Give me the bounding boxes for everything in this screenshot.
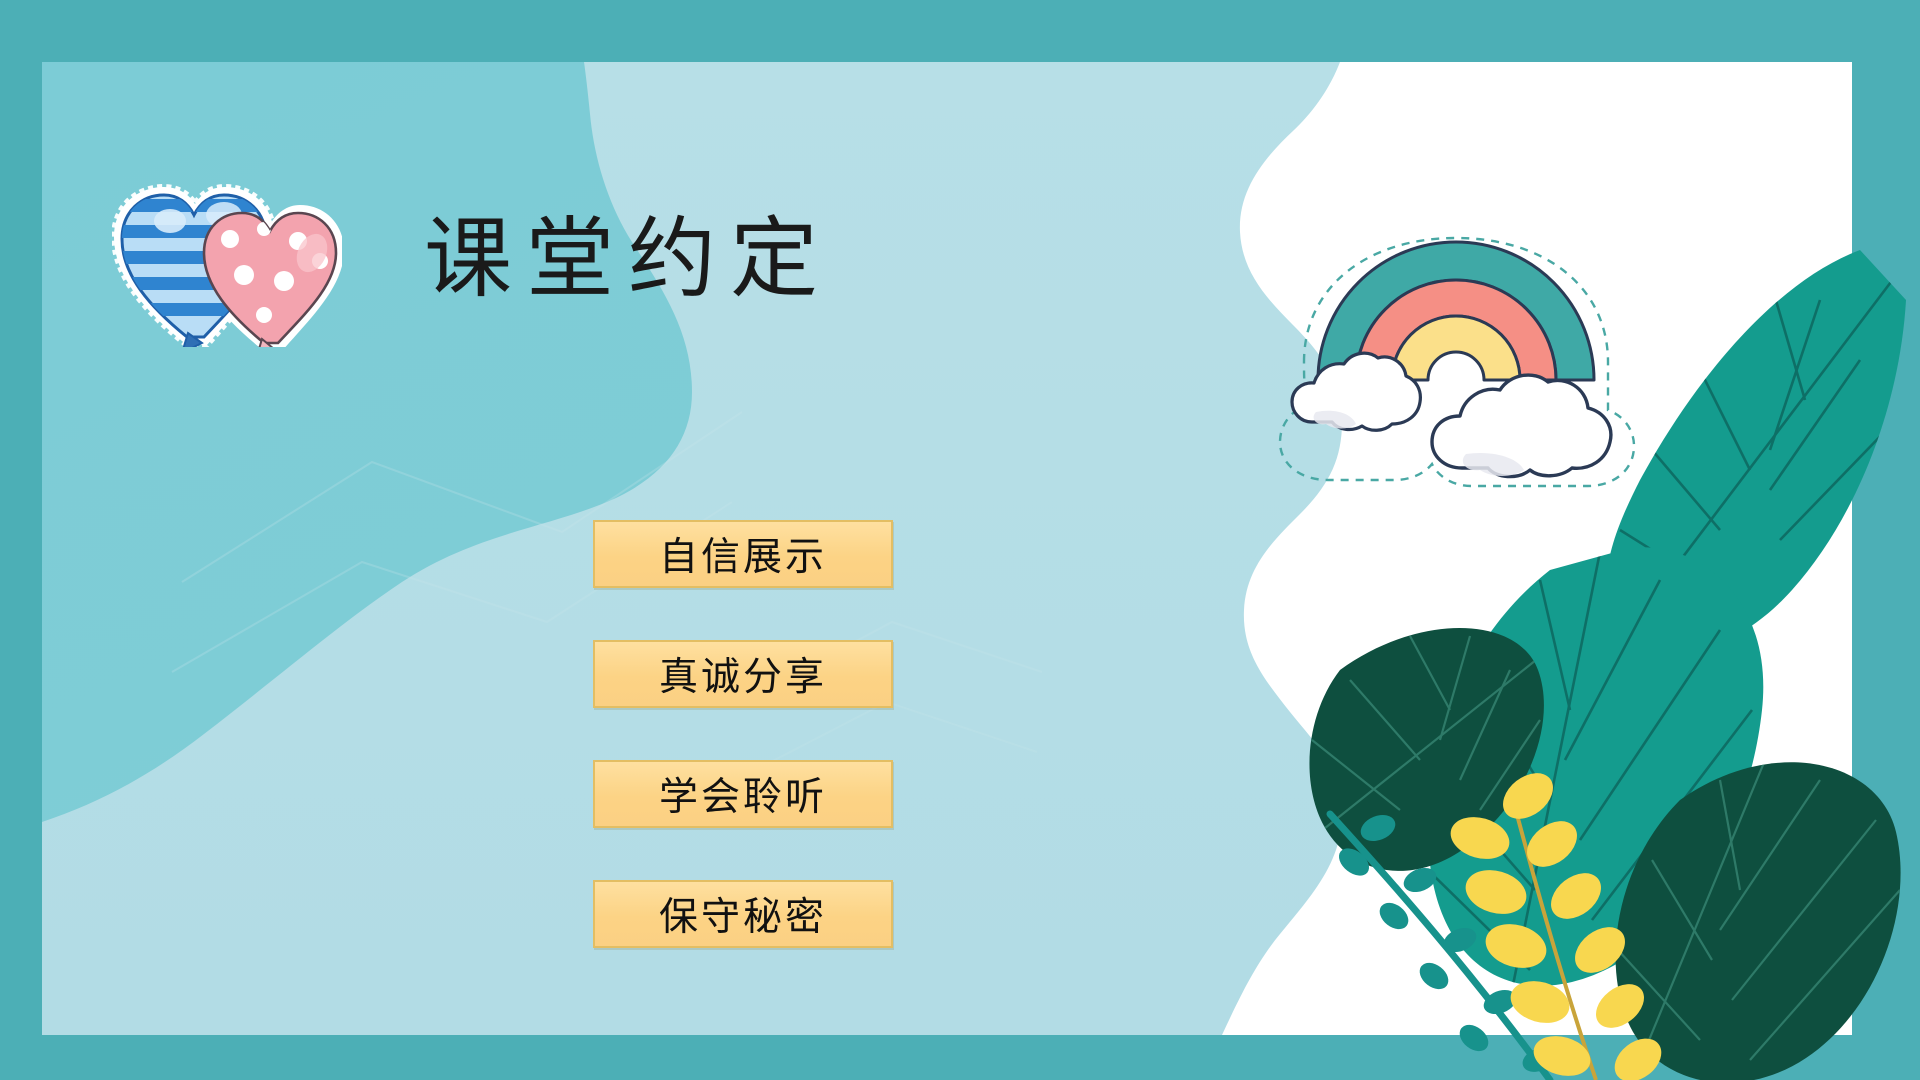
pledge-button-1[interactable]: 自信展示 (593, 520, 893, 588)
white-wave-shape (1222, 62, 1852, 1035)
slide-inner-panel: 课堂约定 自信展示 真诚分享 学会聆听 保守秘密 (42, 62, 1852, 1035)
page-title: 课堂约定 (424, 212, 832, 311)
heart-balloons-icon (112, 157, 342, 347)
pledge-button-3[interactable]: 学会聆听 (593, 760, 893, 828)
pledge-button-4[interactable]: 保守秘密 (593, 880, 893, 948)
pledge-button-2[interactable]: 真诚分享 (593, 640, 893, 708)
pledge-list: 自信展示 真诚分享 学会聆听 保守秘密 (593, 520, 893, 948)
cloud-left (1292, 353, 1420, 430)
slide-canvas: 课堂约定 自信展示 真诚分享 学会聆听 保守秘密 (0, 0, 1920, 1080)
rainbow-clouds-icon (1256, 230, 1656, 500)
cloud-right (1432, 375, 1611, 477)
